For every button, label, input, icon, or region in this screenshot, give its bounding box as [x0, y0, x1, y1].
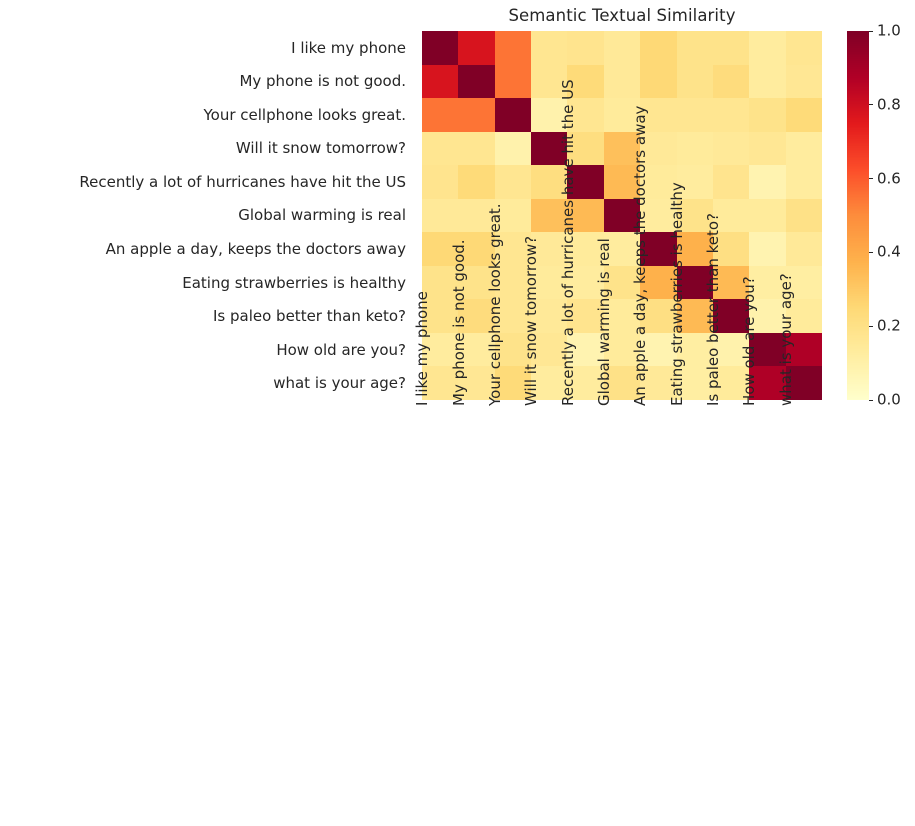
- heatmap-cell: [713, 31, 749, 65]
- heatmap-cell: [713, 65, 749, 99]
- y-axis-tick-label: How old are you?: [0, 333, 414, 367]
- colorbar-tick-label: 0.8: [877, 95, 901, 113]
- y-axis-tick-label: An apple a day, keeps the doctors away: [0, 232, 414, 266]
- heatmap-cell: [458, 98, 494, 132]
- x-axis-tick-slot: Recently a lot of hurricanes have hit th…: [567, 400, 603, 630]
- heatmap-cell: [422, 199, 458, 233]
- x-axis-tick-label: Global warming is real: [595, 238, 613, 406]
- x-axis-tick-slot: Eating strawberries is healthy: [677, 400, 713, 630]
- colorbar-tick-mark: [869, 400, 873, 401]
- heatmap-cell: [422, 165, 458, 199]
- x-axis-tick-label: How old are you?: [740, 276, 758, 406]
- heatmap-cell: [786, 199, 822, 233]
- x-axis-tick-slot: Global warming is real: [604, 400, 640, 630]
- x-axis-tick-slot: An apple a day, keeps the doctors away: [640, 400, 676, 630]
- heatmap-cell: [713, 98, 749, 132]
- x-axis-tick-slot: Will it snow tomorrow?: [531, 400, 567, 630]
- x-axis-tick-labels: I like my phoneMy phone is not good.Your…: [422, 400, 822, 630]
- heatmap-cell: [640, 31, 676, 65]
- y-axis-tick-label: Global warming is real: [0, 199, 414, 233]
- heatmap-cell: [677, 98, 713, 132]
- heatmap-cell: [786, 65, 822, 99]
- colorbar-tick-labels: 0.00.20.40.60.81.0: [847, 31, 915, 400]
- x-axis-tick-label: My phone is not good.: [450, 239, 468, 406]
- heatmap-cell: [495, 98, 531, 132]
- heatmap-cell: [422, 98, 458, 132]
- heatmap-cell: [749, 65, 785, 99]
- x-axis-tick-label: Will it snow tomorrow?: [522, 236, 540, 406]
- heatmap-cell: [749, 199, 785, 233]
- x-axis-tick-label: what is your age?: [777, 273, 795, 406]
- heatmap-cell: [422, 132, 458, 166]
- heatmap-cell: [422, 31, 458, 65]
- heatmap-cell: [567, 31, 603, 65]
- heatmap-cell: [749, 165, 785, 199]
- heatmap-cell: [458, 31, 494, 65]
- heatmap-cell: [458, 165, 494, 199]
- heatmap-cell: [786, 98, 822, 132]
- colorbar-tick-mark: [869, 252, 873, 253]
- heatmap-cell: [749, 232, 785, 266]
- y-axis-tick-label: Will it snow tomorrow?: [0, 132, 414, 166]
- colorbar-tick-label: 0.2: [877, 317, 901, 335]
- x-axis-tick-label: I like my phone: [413, 291, 431, 406]
- x-axis-tick-slot: Your cellphone looks great.: [495, 400, 531, 630]
- x-axis-tick-slot: I like my phone: [422, 400, 458, 630]
- heatmap-cell: [640, 65, 676, 99]
- x-axis-tick-label: Eating strawberries is healthy: [668, 182, 686, 406]
- y-axis-tick-label: Eating strawberries is healthy: [0, 266, 414, 300]
- y-axis-tick-labels: I like my phoneMy phone is not good.Your…: [0, 31, 414, 400]
- heatmap-grid: [422, 31, 822, 400]
- heatmap-cell: [458, 65, 494, 99]
- heatmap-cell: [495, 132, 531, 166]
- heatmap-cell: [677, 31, 713, 65]
- heatmap-cell: [749, 31, 785, 65]
- x-axis-tick-slot: My phone is not good.: [458, 400, 494, 630]
- heatmap-cell: [531, 31, 567, 65]
- heatmap-cell: [749, 132, 785, 166]
- colorbar-tick-mark: [869, 31, 873, 32]
- heatmap-cell: [786, 165, 822, 199]
- x-axis-tick-slot: How old are you?: [749, 400, 785, 630]
- heatmap-cell: [677, 132, 713, 166]
- heatmap-cell: [604, 65, 640, 99]
- figure-canvas: Semantic Textual Similarity I like my ph…: [0, 0, 915, 826]
- heatmap-cell: [677, 65, 713, 99]
- x-axis-tick-label: An apple a day, keeps the doctors away: [631, 106, 649, 406]
- heatmap-cell: [749, 98, 785, 132]
- heatmap-cell: [786, 31, 822, 65]
- heatmap-cell: [786, 132, 822, 166]
- colorbar-tick-mark: [869, 104, 873, 105]
- colorbar-tick-mark: [869, 326, 873, 327]
- heatmap-cell: [604, 31, 640, 65]
- colorbar-tick-label: 0.4: [877, 243, 901, 261]
- colorbar-tick-mark: [869, 178, 873, 179]
- y-axis-tick-label: what is your age?: [0, 366, 414, 400]
- heatmap-cell: [458, 132, 494, 166]
- heatmap-cell: [495, 65, 531, 99]
- heatmap-cell: [786, 232, 822, 266]
- x-axis-tick-label: Your cellphone looks great.: [486, 203, 504, 406]
- y-axis-tick-label: Your cellphone looks great.: [0, 98, 414, 132]
- y-axis-tick-label: Recently a lot of hurricanes have hit th…: [0, 165, 414, 199]
- x-axis-tick-slot: Is paleo better than keto?: [713, 400, 749, 630]
- y-axis-tick-label: I like my phone: [0, 31, 414, 65]
- heatmap-cell: [713, 165, 749, 199]
- heatmap-cell: [422, 65, 458, 99]
- colorbar-tick-label: 1.0: [877, 22, 901, 40]
- x-axis-tick-label: Is paleo better than keto?: [704, 213, 722, 406]
- y-axis-tick-label: My phone is not good.: [0, 65, 414, 99]
- heatmap-cell: [713, 132, 749, 166]
- heatmap-cell: [495, 165, 531, 199]
- heatmap-cell: [495, 31, 531, 65]
- x-axis-tick-label: Recently a lot of hurricanes have hit th…: [559, 79, 577, 406]
- chart-title: Semantic Textual Similarity: [422, 6, 822, 25]
- x-axis-tick-slot: what is your age?: [786, 400, 822, 630]
- y-axis-tick-label: Is paleo better than keto?: [0, 299, 414, 333]
- colorbar-tick-label: 0.0: [877, 391, 901, 409]
- colorbar-tick-label: 0.6: [877, 169, 901, 187]
